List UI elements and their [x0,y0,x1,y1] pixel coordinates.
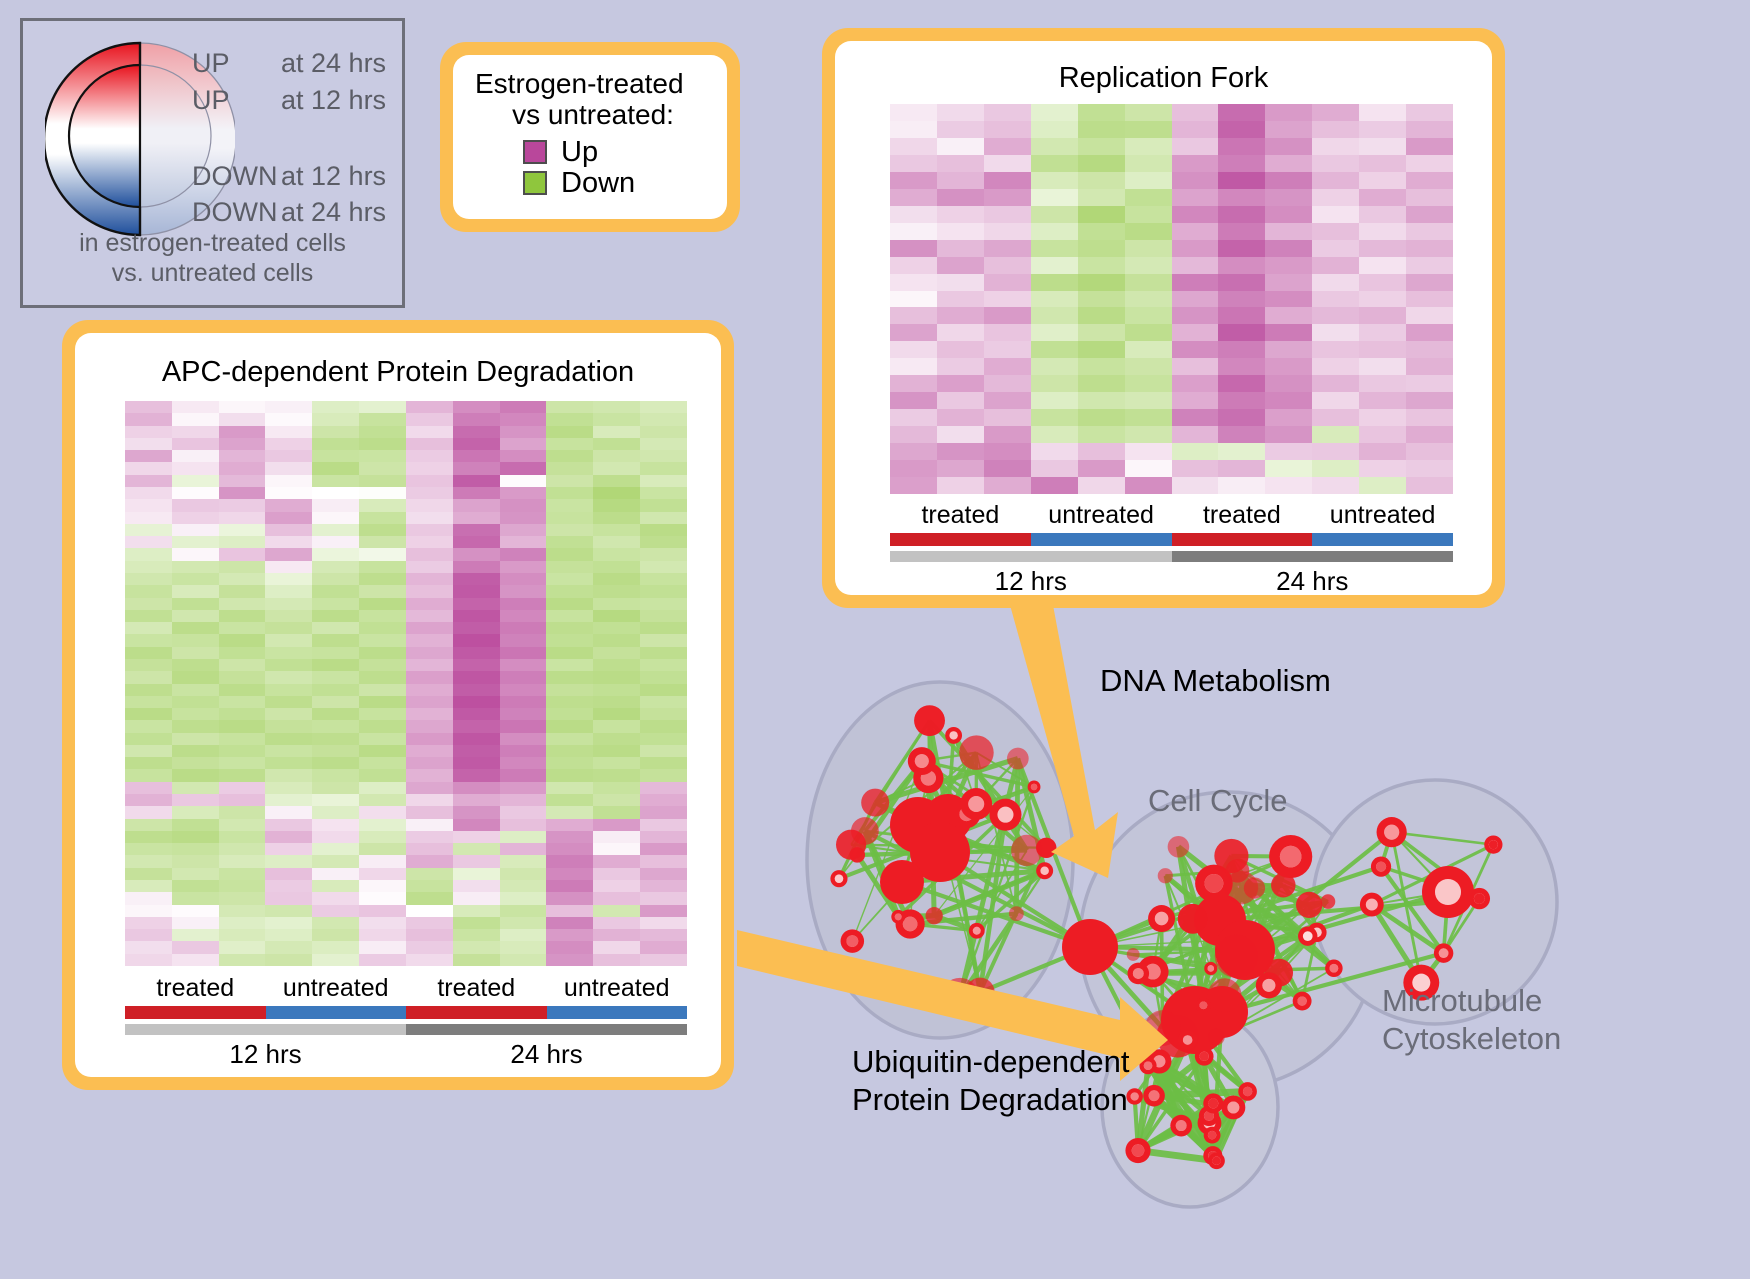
heatmap-cell [406,462,453,474]
heatmap-cell [593,819,640,831]
network-node[interactable] [861,789,889,817]
heatmap-cell [125,573,172,585]
heatmap-cell [546,598,593,610]
heatmap-cell [125,462,172,474]
heatmap-cell [219,757,266,769]
time-label-24hrs: 24 hrs [1172,566,1454,597]
heatmap-cell [453,634,500,646]
network-node[interactable] [1007,748,1029,770]
time-bar-24hrs [406,1024,687,1035]
heatmap-cell [500,843,547,855]
heatmap-cell [1125,155,1172,172]
heatmap-cell [265,868,312,880]
heatmap-cell [219,855,266,867]
heatmap-cell [359,462,406,474]
network-node[interactable] [960,788,992,820]
heatmap-cell [1406,206,1453,223]
network-node[interactable] [1143,1085,1165,1107]
heatmap-cell [125,708,172,720]
legend-footer-line1: in estrogen-treated cells [23,229,402,259]
network-node[interactable] [1195,1047,1214,1066]
network-node[interactable] [1127,948,1140,961]
network-node[interactable] [891,910,905,924]
network-node[interactable] [1238,1082,1257,1101]
heatmap-cell [312,401,359,413]
network-node[interactable] [1145,1010,1181,1046]
network-node[interactable] [959,735,994,770]
heatmap-cell [937,172,984,189]
network-node[interactable] [1139,1057,1156,1074]
heatmap-cell [453,462,500,474]
heatmap-cell [1312,477,1359,494]
heatmap-cell [406,782,453,794]
heatmap-cell [1031,189,1078,206]
network-node[interactable] [880,860,924,904]
heatmap-cell [1172,341,1219,358]
heatmap-cell [1172,477,1219,494]
heatmap-cell [640,720,687,732]
heatmap-cell [453,622,500,634]
heatmap-cell [359,401,406,413]
heatmap-cell [640,684,687,696]
heatmap-cell [453,733,500,745]
network-node[interactable] [1208,1028,1225,1045]
heatmap-cell [359,634,406,646]
heatmap-cell [937,426,984,443]
heatmap-cell [890,477,937,494]
network-node[interactable] [1128,963,1150,985]
network-node[interactable] [1371,857,1391,877]
heatmap-cell [937,189,984,206]
heatmap-cell [1359,426,1406,443]
heatmap-cell [312,892,359,904]
heatmap-cell [265,573,312,585]
heatmap-cell [219,499,266,511]
network-node[interactable] [1208,978,1242,1012]
network-node[interactable] [969,923,985,939]
heatmap-cell [219,733,266,745]
heatmap-cell [1359,409,1406,426]
estrogen-key-down-label: Down [561,169,635,198]
down-swatch-icon [523,171,547,195]
heatmap-cell [265,794,312,806]
heatmap-cell [125,659,172,671]
heatmap-cell [984,155,1031,172]
heatmap-cell [593,954,640,966]
heatmap-cell [172,671,219,683]
heatmap-cell [546,401,593,413]
heatmap-cell [1406,426,1453,443]
network-node[interactable] [1168,836,1190,858]
heatmap-cell [1078,375,1125,392]
heatmap-cell [125,855,172,867]
network-node[interactable] [841,929,865,953]
heatmap-cell [312,720,359,732]
network-node[interactable] [1204,962,1217,975]
heatmap-cell [453,561,500,573]
heatmap-cell [500,499,547,511]
network-node[interactable] [1062,919,1118,975]
heatmap-cell [219,598,266,610]
heatmap-cell [453,905,500,917]
ubiquitin-line1: Ubiquitin-dependent [852,1043,1130,1081]
network-node[interactable] [1215,935,1258,978]
heatmap-cell [453,438,500,450]
heatmap-cell [1125,189,1172,206]
heatmap-cell [1406,324,1453,341]
heatmap-cell [1078,392,1125,409]
heatmap-cell [640,831,687,843]
heatmap-cell [359,794,406,806]
network-node[interactable] [1293,992,1312,1011]
heatmap-cell [1406,375,1453,392]
heatmap-cell [359,450,406,462]
heatmap-cell [1031,274,1078,291]
cluster-label-microtubule-cytoskeleton: Microtubule Cytoskeleton [1382,982,1561,1058]
network-node[interactable] [1269,835,1312,878]
heatmap-cell [1359,274,1406,291]
heatmap-cell [172,524,219,536]
heatmap-cell [312,769,359,781]
heatmap-cell [359,610,406,622]
heatmap-cell [890,240,937,257]
heatmap-cell [406,634,453,646]
heatmap-cell [1218,409,1265,426]
heatmap-cell [500,487,547,499]
heatmap-cell [500,610,547,622]
heatmap-cell [640,438,687,450]
heatmap-cell [219,462,266,474]
ubiquitin-line2: Protein Degradation [852,1081,1130,1119]
heatmap-cell [890,392,937,409]
heatmap-cell [125,684,172,696]
heatmap-cell [1125,104,1172,121]
heatmap-cell [265,708,312,720]
heatmap-cell [1406,443,1453,460]
heatmap-cell [265,880,312,892]
heatmap-cell [219,573,266,585]
heatmap-cell [453,426,500,438]
heatmap-cell [265,892,312,904]
heatmap-cell [1125,375,1172,392]
heatmap-cell [265,524,312,536]
network-node[interactable] [1298,926,1317,945]
replication-fork-time-labels: 12 hrs 24 hrs [890,566,1453,597]
heatmap-cell [1312,206,1359,223]
heatmap-cell [406,659,453,671]
heatmap-cell [1125,477,1172,494]
group-bar-treated-24 [1172,533,1313,546]
heatmap-cell [265,696,312,708]
heatmap-cell [500,905,547,917]
heatmap-cell [1406,341,1453,358]
heatmap-cell [593,573,640,585]
network-node[interactable] [1196,998,1211,1013]
heatmap-cell [500,892,547,904]
heatmap-cell [500,941,547,953]
heatmap-cell [219,634,266,646]
heatmap-cell [1265,358,1312,375]
heatmap-cell [640,512,687,524]
network-node[interactable] [1434,943,1453,962]
network-node[interactable] [926,907,943,924]
heatmap-cell [593,647,640,659]
heatmap-cell [453,512,500,524]
heatmap-cell [1312,155,1359,172]
heatmap-cell [265,413,312,425]
heatmap-cell [1078,409,1125,426]
heatmap-cell [500,426,547,438]
heatmap-cell [500,450,547,462]
heatmap-cell [500,757,547,769]
heatmap-cell [593,684,640,696]
heatmap-cell [546,806,593,818]
heatmap-cell [219,536,266,548]
heatmap-cell [546,622,593,634]
heatmap-cell [1265,206,1312,223]
heatmap-cell [1078,307,1125,324]
heatmap-cell [984,104,1031,121]
network-node[interactable] [1296,892,1322,918]
network-node[interactable] [1028,781,1041,794]
heatmap-cell [359,819,406,831]
heatmap-cell [593,831,640,843]
heatmap-cell [406,426,453,438]
heatmap-cell [219,647,266,659]
heatmap-cell [1125,223,1172,240]
network-node[interactable] [914,705,945,736]
heatmap-cell [312,794,359,806]
heatmap-cell [593,585,640,597]
heatmap-cell [125,671,172,683]
heatmap-cell [1125,240,1172,257]
cluster-label-ubiquitin-degradation: Ubiquitin-dependent Protein Degradation [852,1043,1130,1119]
heatmap-cell [359,561,406,573]
network-node[interactable] [1225,871,1258,904]
heatmap-cell [640,524,687,536]
heatmap-cell [172,733,219,745]
heatmap-cell [1031,155,1078,172]
heatmap-cell [265,684,312,696]
heatmap-cell [1078,223,1125,240]
heatmap-cell [984,460,1031,477]
heatmap-cell [125,426,172,438]
network-node[interactable] [1377,817,1407,847]
heatmap-cell [453,659,500,671]
network-node[interactable] [1256,972,1282,998]
heatmap-cell [500,954,547,966]
heatmap-cell [500,585,547,597]
heatmap-cell [359,720,406,732]
heatmap-cell [406,794,453,806]
heatmap-cell [406,401,453,413]
network-node[interactable] [1158,868,1173,883]
heatmap-cell [1218,341,1265,358]
network-node[interactable] [1170,1115,1192,1137]
heatmap-cell [1172,375,1219,392]
network-node[interactable] [1148,905,1175,932]
heatmap-cell [219,548,266,560]
heatmap-cell [1172,307,1219,324]
heatmap-cell [359,696,406,708]
heatmap-cell [1218,375,1265,392]
heatmap-cell [312,462,359,474]
heatmap-cell [546,561,593,573]
heatmap-cell [640,413,687,425]
heatmap-cell [1172,206,1219,223]
heatmap-cell [1359,443,1406,460]
network-node[interactable] [1484,835,1502,853]
heatmap-cell [312,819,359,831]
heatmap-cell [640,892,687,904]
heatmap-cell [593,880,640,892]
heatmap-cell [125,634,172,646]
heatmap-cell [312,524,359,536]
heatmap-cell [312,413,359,425]
network-node[interactable] [1422,866,1474,918]
heatmap-cell [640,475,687,487]
heatmap-cell [937,291,984,308]
heatmap-cell [1265,324,1312,341]
heatmap-cell [1359,172,1406,189]
heatmap-cell [125,917,172,929]
heatmap-cell [500,917,547,929]
replication-fork-panel: Replication Fork treated untreated treat… [822,28,1505,608]
heatmap-cell [1078,426,1125,443]
network-node[interactable] [1221,1096,1245,1120]
heatmap-cell [937,341,984,358]
heatmap-cell [406,573,453,585]
heatmap-cell [265,450,312,462]
heatmap-cell [937,307,984,324]
heatmap-cell [219,831,266,843]
heatmap-cell [640,561,687,573]
heatmap-cell [312,868,359,880]
heatmap-cell [406,868,453,880]
heatmap-cell [359,487,406,499]
heatmap-cell [1406,172,1453,189]
heatmap-cell [172,880,219,892]
heatmap-cell [172,536,219,548]
heatmap-cell [1125,172,1172,189]
heatmap-cell [172,720,219,732]
heatmap-cell [500,782,547,794]
heatmap-cell [1312,223,1359,240]
network-node[interactable] [1321,894,1336,909]
legend-footer: in estrogen-treated cells vs. untreated … [23,229,402,288]
network-svg [790,620,1750,1279]
heatmap-cell [1265,477,1312,494]
heatmap-cell [406,757,453,769]
cluster-label-cell-cycle: Cell Cycle [1148,783,1288,819]
heatmap-cell [1031,138,1078,155]
heatmap-cell [500,855,547,867]
network-node[interactable] [1325,960,1343,978]
heatmap-cell [1125,392,1172,409]
legend-suffix-down24: at 24 hrs [281,197,386,228]
heatmap-cell [593,917,640,929]
network-node[interactable] [1036,862,1053,879]
network-node[interactable] [1009,906,1024,921]
network-node[interactable] [1469,888,1490,909]
heatmap-cell [890,426,937,443]
heatmap-cell [890,375,937,392]
heatmap-cell [265,954,312,966]
heatmap-cell [1265,307,1312,324]
heatmap-cell [1312,341,1359,358]
heatmap-cell [937,155,984,172]
network-node[interactable] [908,747,936,775]
heatmap-cell [312,499,359,511]
heatmap-cell [1218,443,1265,460]
heatmap-cell [125,929,172,941]
heatmap-cell [546,450,593,462]
heatmap-cell [1359,358,1406,375]
heatmap-cell [640,905,687,917]
heatmap-cell [359,512,406,524]
network-node[interactable] [1203,1093,1223,1113]
heatmap-cell [546,438,593,450]
heatmap-cell [1125,460,1172,477]
heatmap-cell [546,462,593,474]
network-node[interactable] [1360,893,1384,917]
network-node[interactable] [989,799,1021,831]
heatmap-cell [937,257,984,274]
heatmap-cell [640,659,687,671]
heatmap-cell [593,487,640,499]
heatmap-cell [219,438,266,450]
network-node[interactable] [945,727,962,744]
heatmap-cell [640,880,687,892]
heatmap-cell [1359,392,1406,409]
network-node[interactable] [849,847,865,863]
network-node[interactable] [1011,835,1042,866]
heatmap-cell [546,880,593,892]
network-node[interactable] [1178,1030,1197,1049]
network-node[interactable] [1178,904,1208,934]
up-swatch-icon [523,140,547,164]
heatmap-cell [1406,392,1453,409]
heatmap-cell [1265,341,1312,358]
network-node[interactable] [941,978,979,1016]
up-down-legend-box: UP at 24 hrs UP at 12 hrs DOWN at 12 hrs… [20,18,405,308]
heatmap-cell [500,708,547,720]
heatmap-cell [890,443,937,460]
heatmap-cell [593,843,640,855]
heatmap-cell [593,941,640,953]
heatmap-cell [219,708,266,720]
network-node[interactable] [830,870,847,887]
heatmap-cell [172,487,219,499]
heatmap-cell [1359,223,1406,240]
heatmap-cell [312,917,359,929]
heatmap-cell [172,647,219,659]
heatmap-cell [406,684,453,696]
network-node[interactable] [1204,1127,1221,1144]
heatmap-cell [546,708,593,720]
heatmap-cell [125,892,172,904]
heatmap-cell [500,573,547,585]
network-node[interactable] [1125,1138,1150,1163]
heatmap-cell [1031,307,1078,324]
heatmap-cell [172,634,219,646]
group-label-treated-12: treated [125,974,266,1003]
heatmap-cell [1172,274,1219,291]
heatmap-cell [172,917,219,929]
network-node[interactable] [1208,1153,1225,1170]
legend-label-down24: DOWN [192,197,277,228]
heatmap-cell [359,475,406,487]
